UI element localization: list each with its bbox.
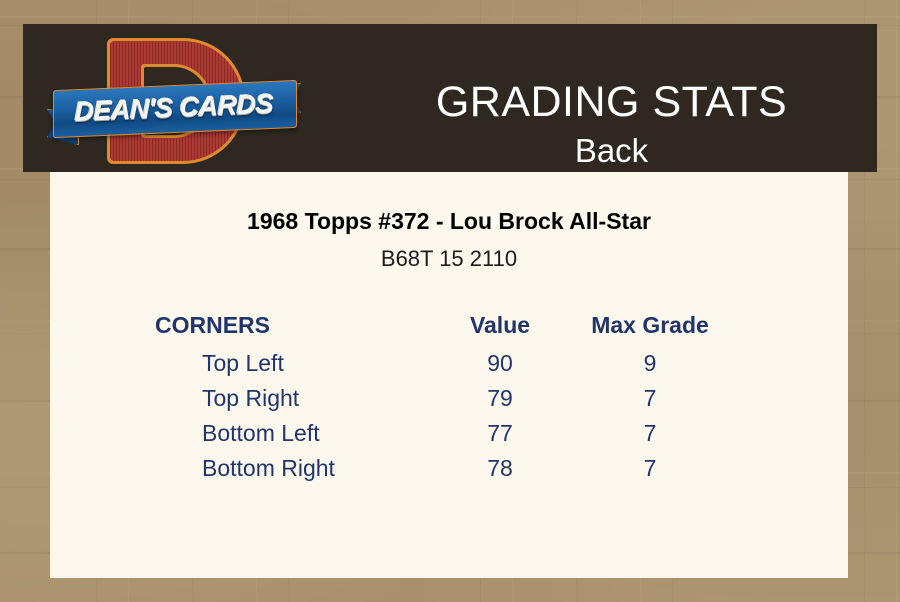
- header-bar: DEAN'S CARDS GRADING STATS Back: [23, 24, 877, 172]
- row-label: Bottom Left: [50, 420, 440, 447]
- table-row: Top Left 90 9: [50, 350, 848, 385]
- table-header-row: CORNERS Value Max Grade: [50, 312, 848, 350]
- row-value: 77: [440, 420, 560, 447]
- grading-stats-table: CORNERS Value Max Grade Top Left 90 9 To…: [50, 312, 848, 490]
- row-label: Top Left: [50, 350, 440, 377]
- table-row: Bottom Left 77 7: [50, 420, 848, 455]
- row-value: 79: [440, 385, 560, 412]
- row-value: 90: [440, 350, 560, 377]
- content-panel: 1968 Topps #372 - Lou Brock All-Star B68…: [50, 172, 848, 578]
- row-max-grade: 7: [560, 385, 740, 412]
- row-max-grade: 7: [560, 420, 740, 447]
- column-header-corners: CORNERS: [50, 312, 440, 339]
- card-title: 1968 Topps #372 - Lou Brock All-Star: [50, 208, 848, 235]
- logo-ribbon-banner: DEAN'S CARDS: [45, 81, 303, 137]
- table-row: Top Right 79 7: [50, 385, 848, 420]
- row-label: Bottom Right: [50, 455, 440, 482]
- row-label: Top Right: [50, 385, 440, 412]
- card-code: B68T 15 2110: [50, 246, 848, 272]
- row-max-grade: 7: [560, 455, 740, 482]
- row-value: 78: [440, 455, 560, 482]
- deans-cards-logo[interactable]: DEAN'S CARDS: [45, 26, 303, 171]
- column-header-max-grade: Max Grade: [560, 312, 740, 339]
- table-row: Bottom Right 78 7: [50, 455, 848, 490]
- grading-stats-page: DEAN'S CARDS GRADING STATS Back 1968 Top…: [0, 0, 900, 602]
- column-header-value: Value: [440, 312, 560, 339]
- page-title: GRADING STATS: [436, 80, 787, 125]
- row-max-grade: 9: [560, 350, 740, 377]
- page-subtitle: Back: [575, 132, 648, 170]
